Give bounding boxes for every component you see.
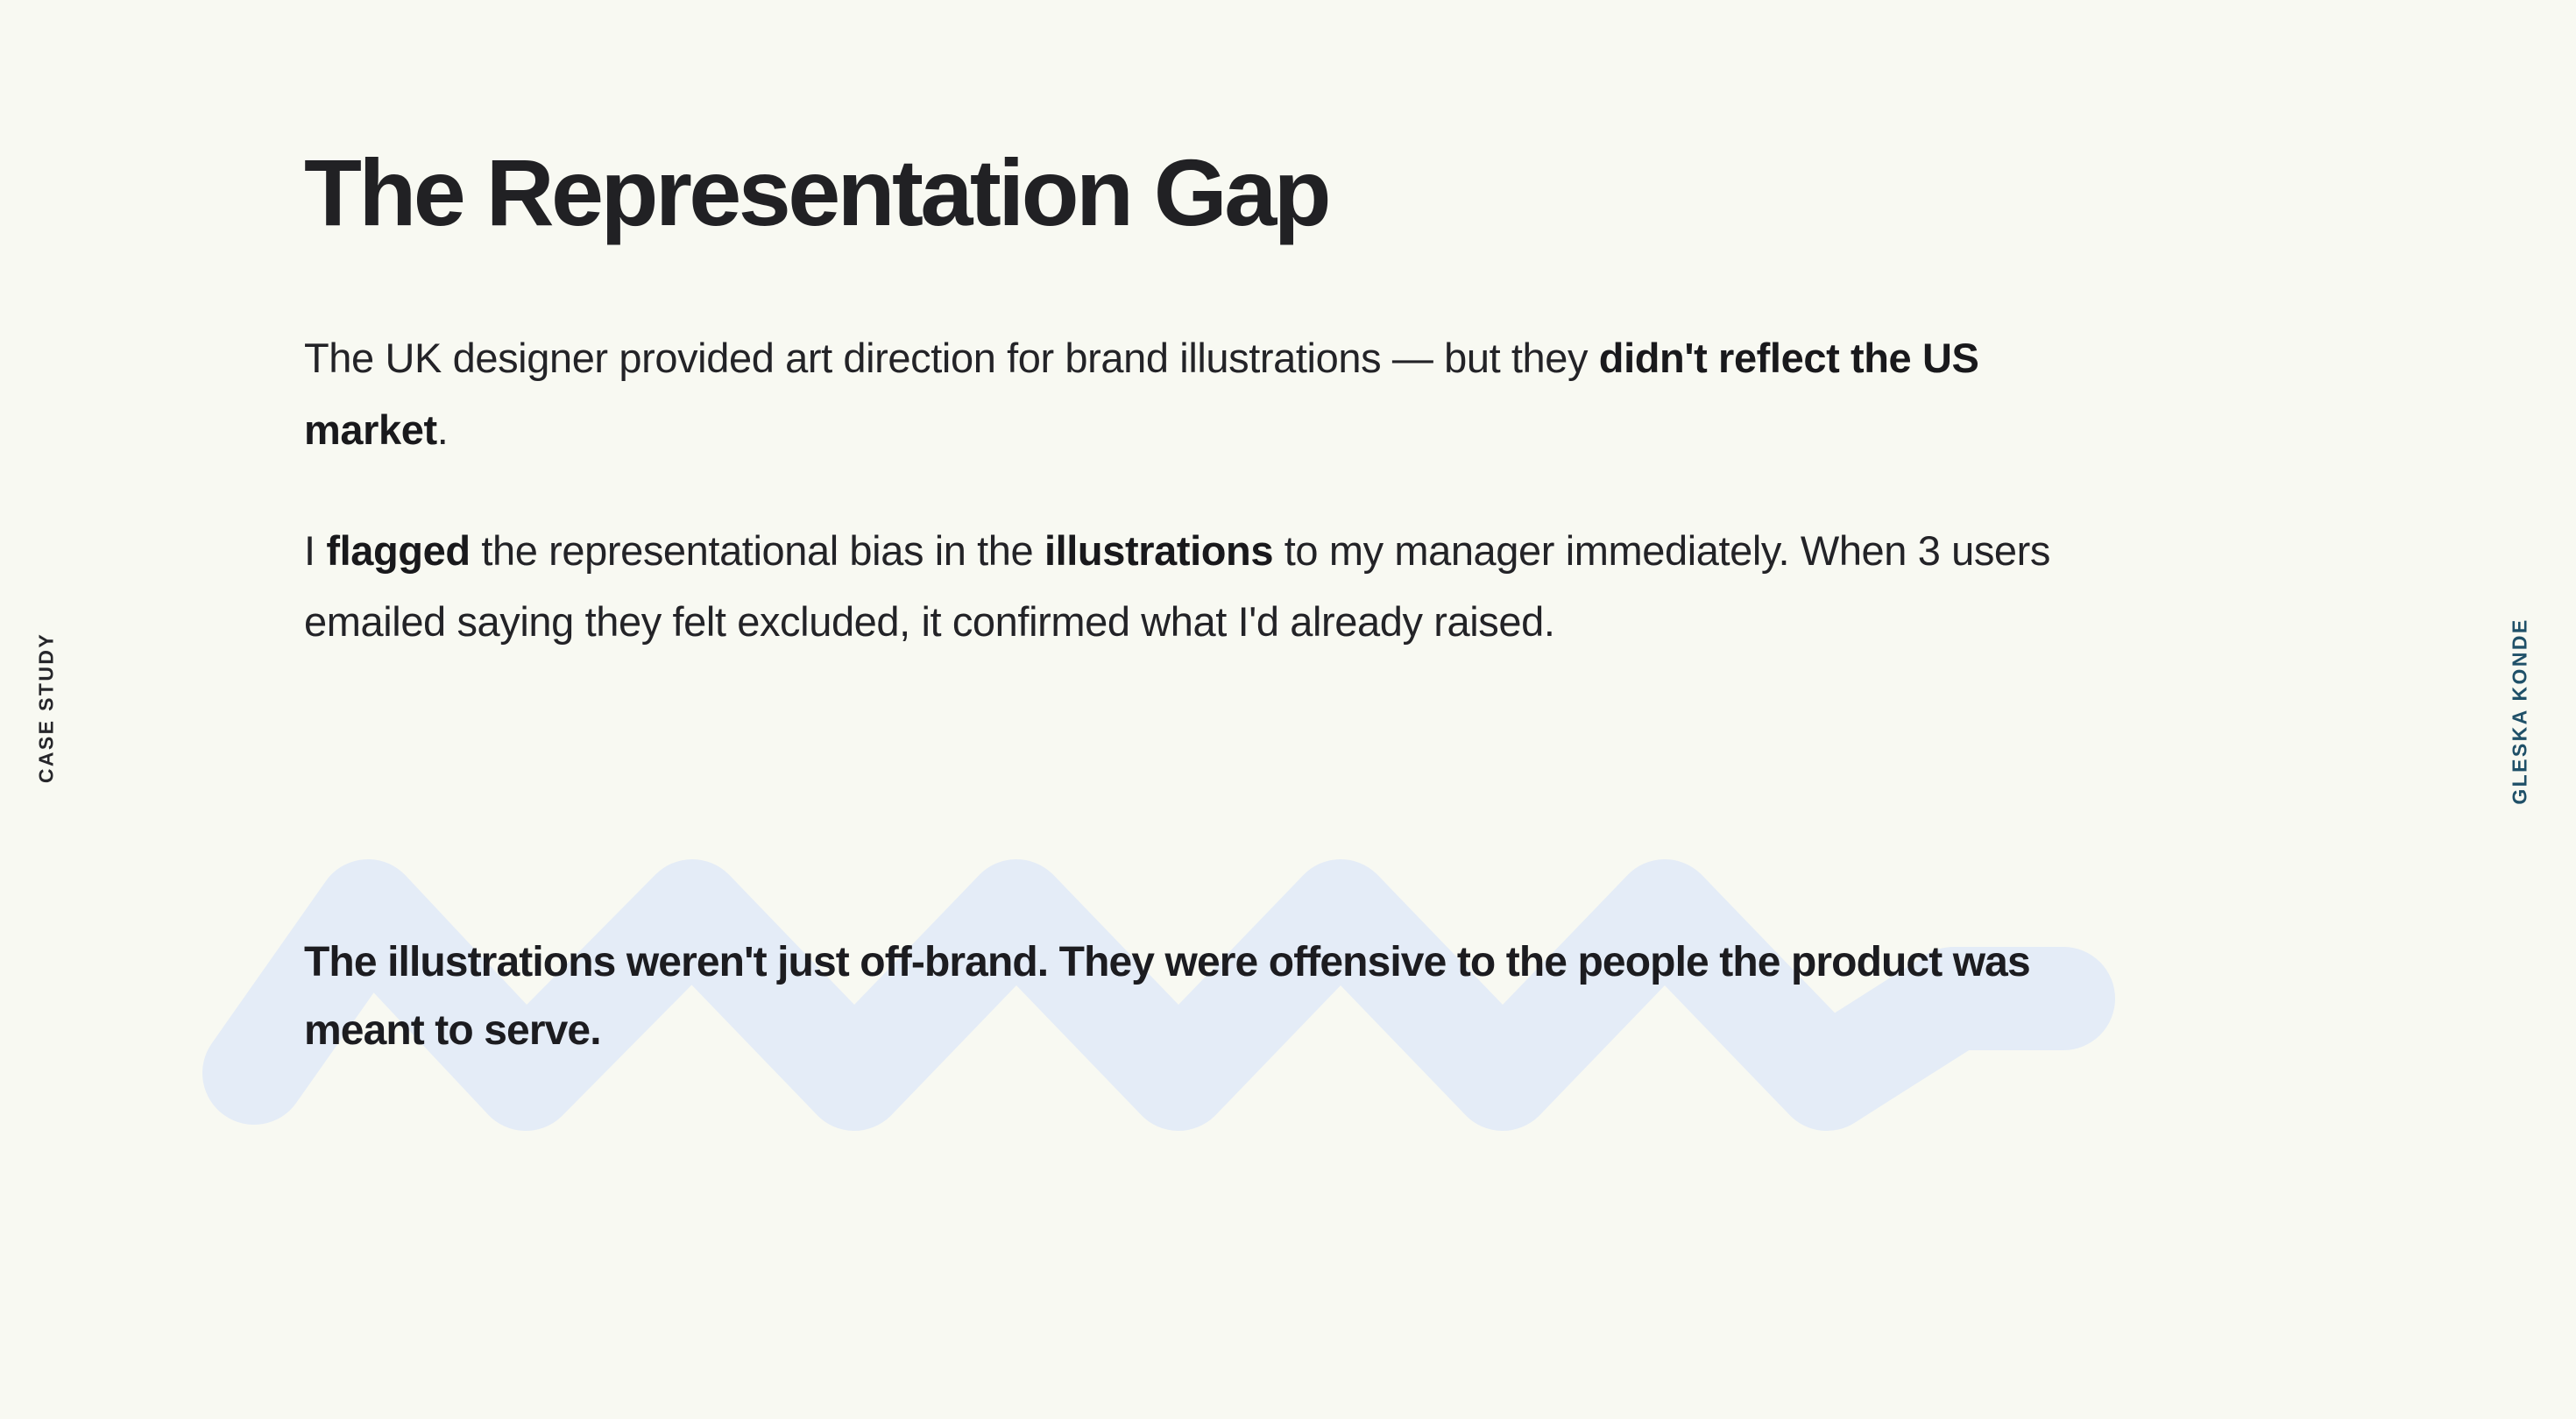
pullquote-statement: The illustrations weren't just off-brand… [304, 928, 2056, 1065]
body-copy: The UK designer provided art direction f… [304, 322, 2074, 658]
plain-text: the representational bias in the [471, 527, 1044, 574]
slide-content: The Representation Gap The UK designer p… [304, 0, 2337, 1419]
plain-text: I [304, 527, 326, 574]
body-paragraph: The UK designer provided art direction f… [304, 322, 2074, 466]
slide-root: CASE STUDY GLESKA KONDE The Representati… [0, 0, 2576, 1419]
plain-text: . [437, 406, 449, 453]
page-title: The Representation Gap [304, 143, 1328, 242]
emphasis-text: illustrations [1044, 527, 1273, 574]
side-label-brand-gleska-konde: GLESKA KONDE [2510, 618, 2530, 804]
plain-text: The UK designer provided art direction f… [304, 335, 1599, 381]
body-paragraph: I flagged the representational bias in t… [304, 515, 2074, 659]
side-label-case-study: CASE STUDY [37, 632, 57, 783]
emphasis-text: flagged [326, 527, 470, 574]
